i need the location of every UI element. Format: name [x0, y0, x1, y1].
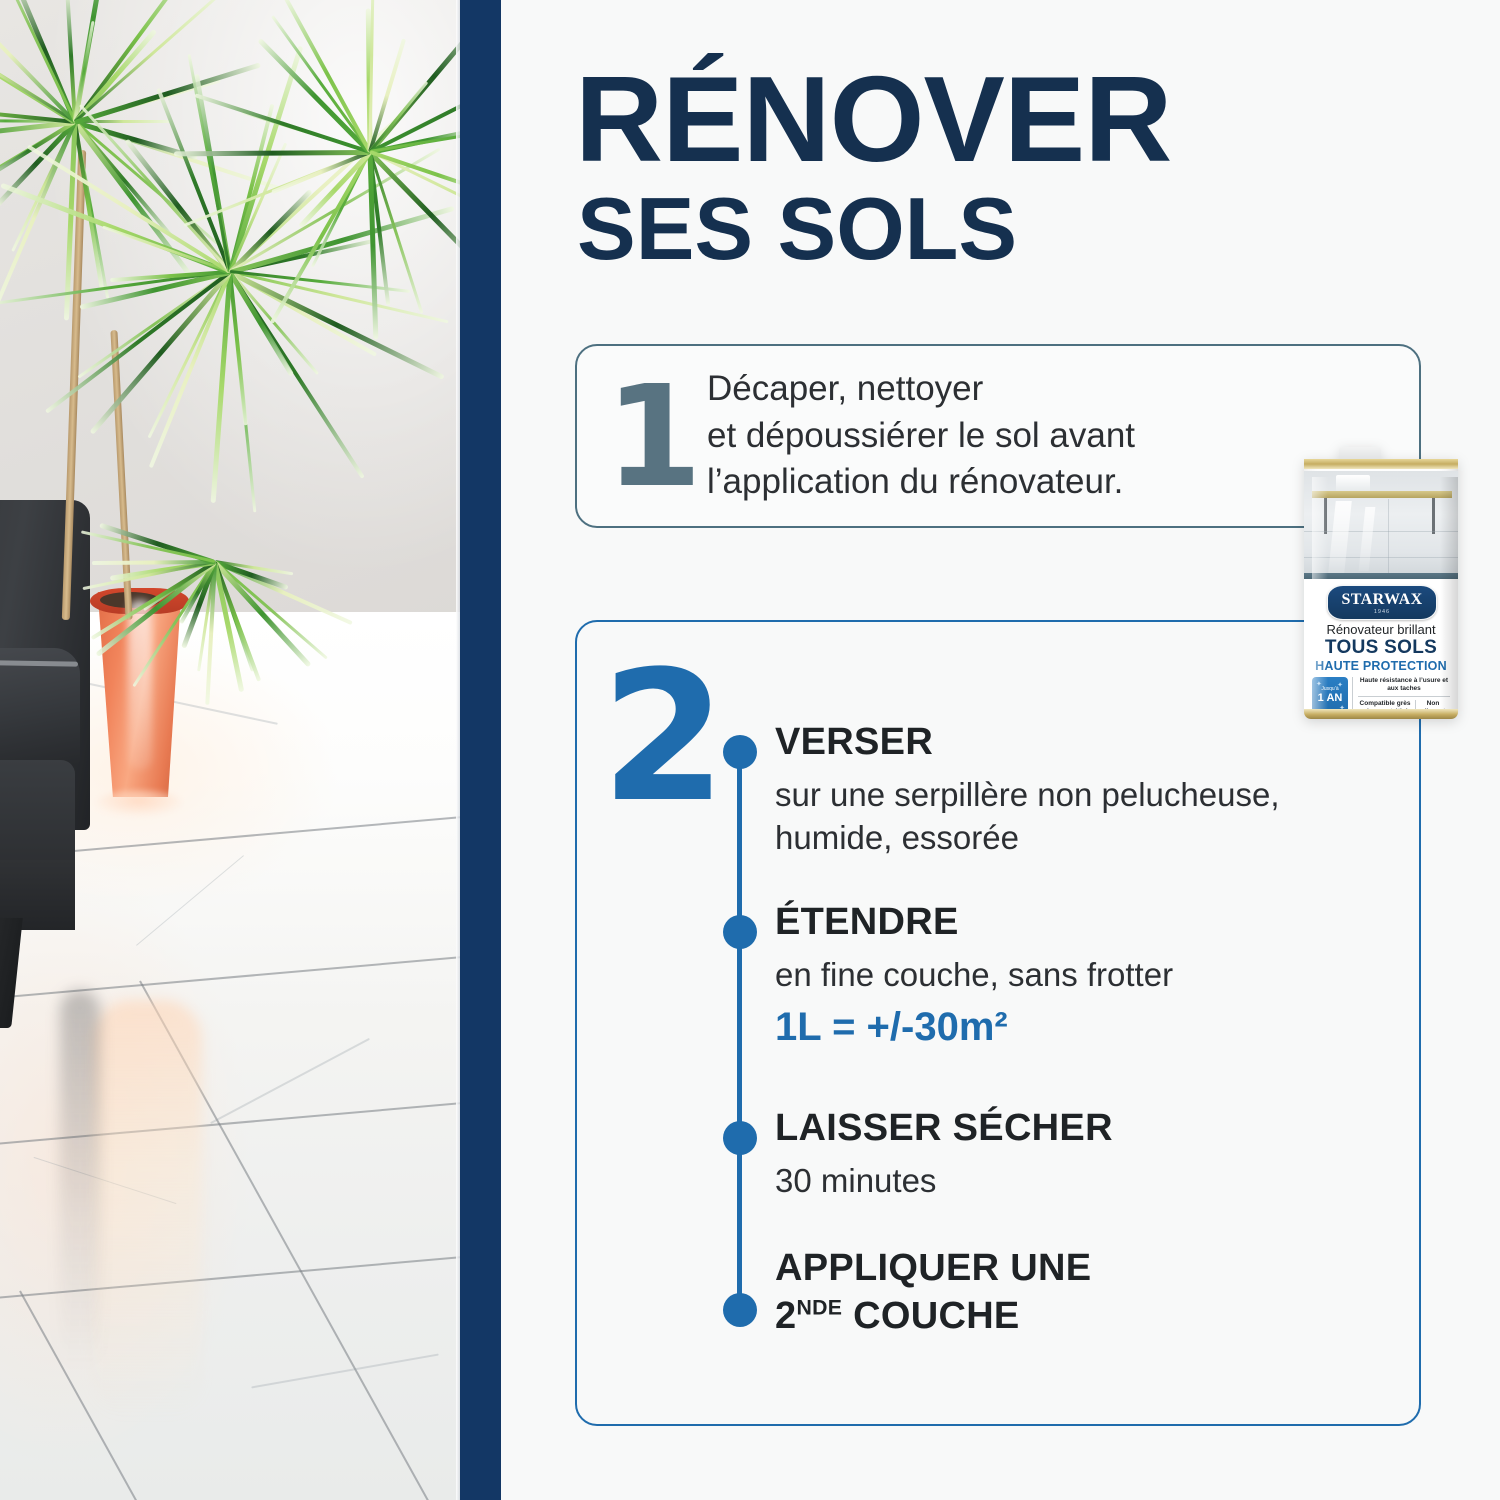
step-1-line: l’application du rénovateur. [707, 459, 1367, 506]
chair-reflection [60, 990, 100, 1370]
product-line-3: HAUTE PROTECTION [1304, 659, 1458, 673]
timeline-dot-laisser-secher [723, 1121, 757, 1155]
sparkle-icon: ✦ [1337, 681, 1343, 689]
bullet-desc-line: en fine couche, sans frotter [775, 954, 1173, 997]
photo-floor-reflection [1359, 507, 1376, 571]
bullet-title-line-2: 2NDE COUCHE [775, 1296, 1091, 1338]
bullet-appliquer-2nde-couche: APPLIQUER UNE 2NDE COUCHE [775, 1248, 1091, 1338]
bottle-gold-base [1304, 709, 1458, 719]
bullet-title: LAISSER SÉCHER [775, 1108, 1113, 1150]
photo-tile-line [1304, 557, 1458, 558]
ordinal-number: 2 [775, 1295, 796, 1337]
step-1-line: et dépoussiérer le sol avant [707, 413, 1367, 460]
brand-name: STARWAX [1328, 591, 1436, 609]
photo-floor-reflection [1328, 501, 1352, 573]
bullet-desc-line: humide, essorée [775, 817, 1280, 860]
badge-duration: 1 AN [1318, 692, 1343, 704]
photo-tile-line [1304, 531, 1458, 532]
bottle-label-photo [1304, 471, 1458, 579]
photo-table-leg [1432, 498, 1435, 534]
coat-word: COUCHE [853, 1295, 1019, 1337]
page-subtitle: SES SOLS [577, 185, 1017, 273]
timeline-dot-verser [723, 735, 757, 769]
feature-resistance: Haute résistance à l’usure et aux taches [1358, 677, 1450, 697]
bullet-etendre: ÉTENDRE en fine couche, sans frotter 1L … [775, 902, 1173, 1050]
bullet-description: en fine couche, sans frotter [775, 954, 1173, 997]
step-2-number: 2 [601, 648, 726, 828]
bottle-gold-shoulder [1304, 459, 1458, 469]
timeline-dot-etendre [723, 915, 757, 949]
product-bottle: STARWAX 1946 Rénovateur brillant TOUS SO… [1301, 447, 1461, 725]
bottle-label-text: STARWAX 1946 Rénovateur brillant TOUS SO… [1304, 579, 1458, 719]
interior-photo [0, 0, 460, 1500]
starwax-logo-badge: STARWAX 1946 [1327, 585, 1437, 620]
page-title: RÉNOVER [575, 58, 1171, 180]
content-panel: RÉNOVER SES SOLS 1 Décaper, nettoyer et … [501, 0, 1500, 1500]
brand-year: 1946 [1328, 609, 1436, 615]
bullet-verser: VERSER sur une serpillère non pelucheuse… [775, 722, 1280, 860]
bullet-description: 30 minutes [775, 1160, 1113, 1203]
coverage-highlight: 1L = +/-30m² [775, 1005, 1173, 1050]
sparkle-icon: ✦ [1316, 680, 1322, 688]
product-line-2: TOUS SOLS [1304, 637, 1458, 659]
bullet-title: ÉTENDRE [775, 902, 1173, 944]
product-line-1: Rénovateur brillant [1304, 622, 1458, 637]
bullet-laisser-secher: LAISSER SÉCHER 30 minutes [775, 1108, 1113, 1203]
bullet-title-line-1: APPLIQUER UNE [775, 1248, 1091, 1290]
bullet-desc-line: 30 minutes [775, 1160, 1113, 1203]
pot-floor-glow [96, 790, 182, 816]
navy-accent-stripe [460, 0, 501, 1500]
photo-table-leg [1324, 498, 1327, 534]
bottle-body: STARWAX 1946 Rénovateur brillant TOUS SO… [1304, 461, 1458, 719]
photo-tile-line [1388, 499, 1389, 579]
bullet-description: sur une serpillère non pelucheuse, humid… [775, 774, 1280, 860]
step-1-text: Décaper, nettoyer et dépoussiérer le sol… [707, 366, 1367, 506]
bullet-title: VERSER [775, 722, 1280, 764]
bullet-desc-line: sur une serpillère non pelucheuse, [775, 774, 1280, 817]
pot-reflection [92, 1000, 202, 1420]
ordinal-suffix: NDE [796, 1295, 842, 1319]
step-1-line: Décaper, nettoyer [707, 366, 1367, 413]
timeline-dot-appliquer [723, 1293, 757, 1327]
photo-table [1312, 491, 1452, 498]
step-1-number: 1 [605, 368, 702, 508]
timeline-connector [737, 752, 742, 1310]
